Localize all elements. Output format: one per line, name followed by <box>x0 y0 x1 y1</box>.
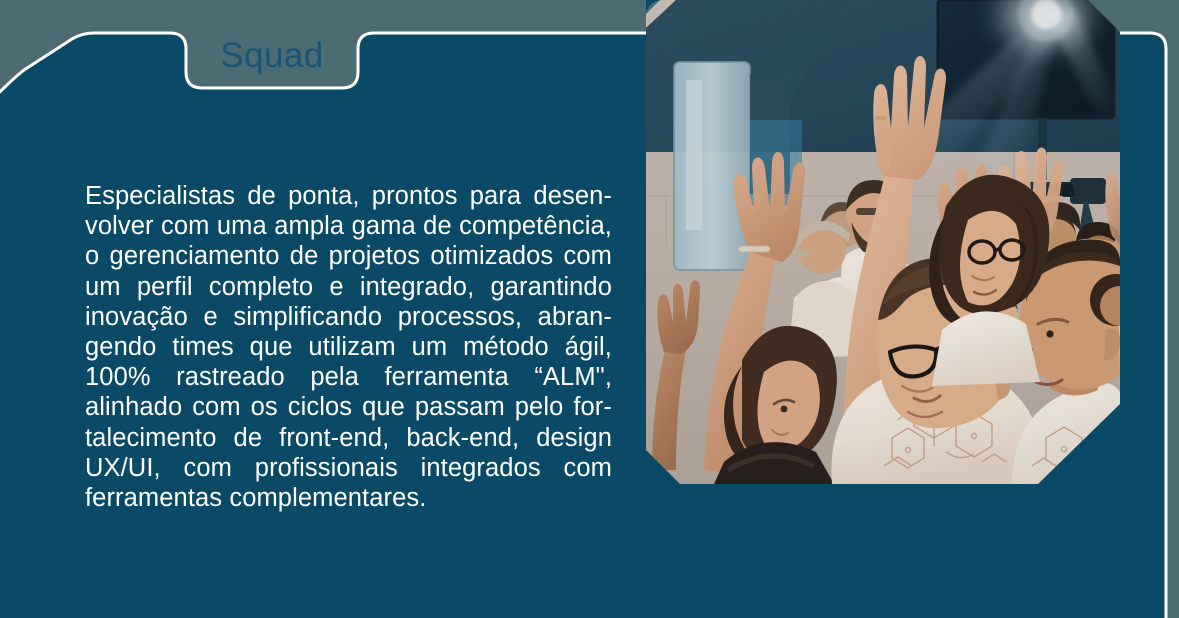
squad-section: Squad Especialistas de ponta, prontos pa… <box>0 0 1179 618</box>
squad-description-line: gendo times que utilizam um método ágil, <box>85 332 612 362</box>
squad-description-line: inovação e simplificando processos, abra… <box>85 302 612 332</box>
squad-description-line: 100% rastreado pela ferramenta “ALM", <box>85 362 612 392</box>
squad-description-line: um perfil completo e integrado, garantin… <box>85 272 612 302</box>
squad-description-line: volver com uma ampla gama de competência… <box>85 211 612 241</box>
squad-description-line: Especialistas de ponta, prontos para des… <box>85 181 612 211</box>
squad-description-line: UX/UI, com profissionais integrados com <box>85 453 612 483</box>
squad-photo <box>646 0 1120 484</box>
squad-description-line: alinhado com os ciclos que passam pelo f… <box>85 392 612 422</box>
squad-description-line: o gerenciamento de projetos otimizados c… <box>85 241 612 271</box>
squad-description-line: ferramentas complementares. <box>85 483 612 513</box>
tab-squad[interactable]: Squad <box>186 30 358 82</box>
squad-description: Especialistas de ponta, prontos para des… <box>85 181 612 513</box>
squad-description-line: talecimento de front-end, back-end, desi… <box>85 423 612 453</box>
